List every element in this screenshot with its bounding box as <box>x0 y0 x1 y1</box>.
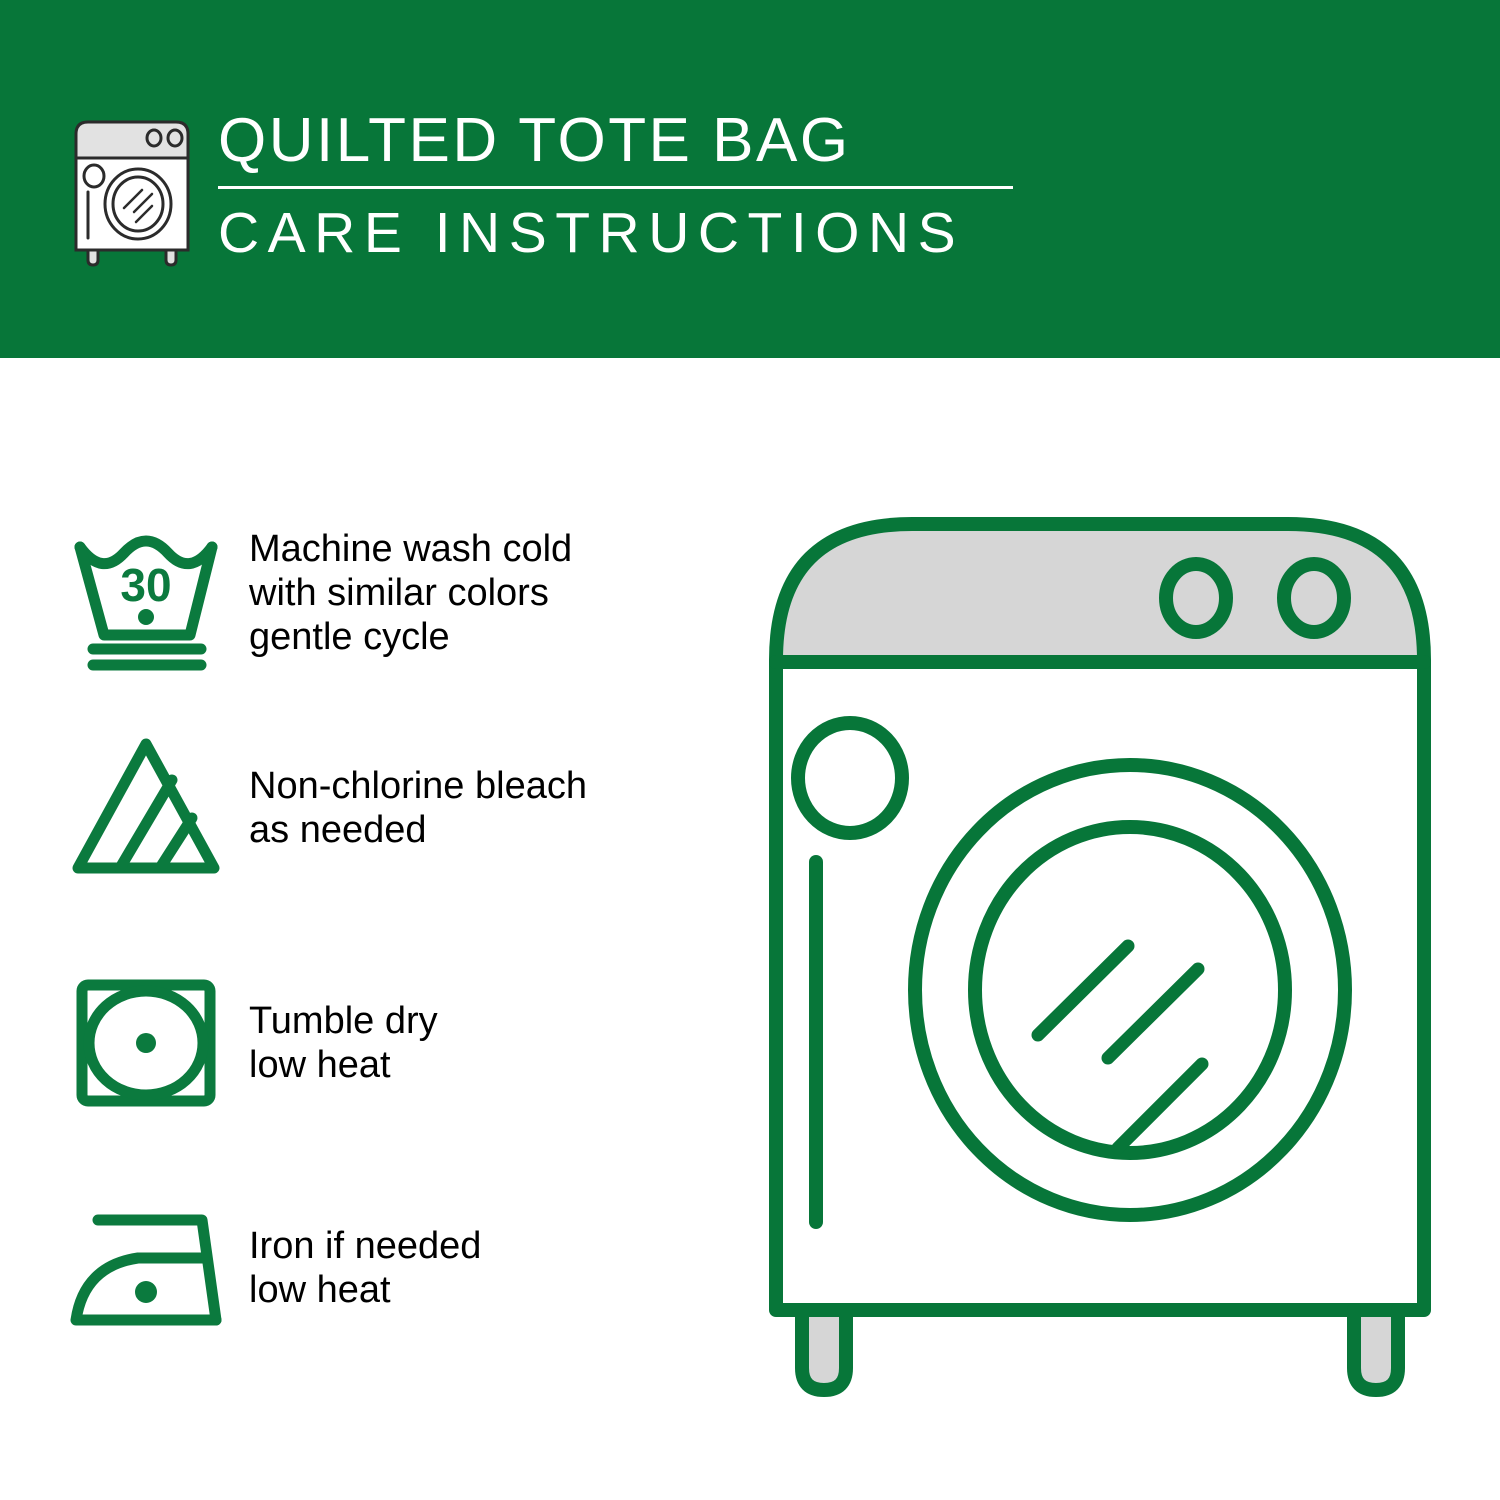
wash-temperature-label: 30 <box>120 559 171 611</box>
care-item-bleach: Non-chlorine bleach as needed <box>60 720 720 895</box>
care-item-iron-text: Iron if needed low heat <box>235 1224 720 1312</box>
tumble-dry-low-icon <box>60 955 235 1130</box>
page-subtitle: CARE INSTRUCTIONS <box>218 199 1018 267</box>
care-text-line: low heat <box>249 1043 720 1087</box>
header-text-block: QUILTED TOTE BAG CARE INSTRUCTIONS <box>218 104 1018 267</box>
care-item-tumble-dry-text: Tumble dry low heat <box>235 999 720 1087</box>
control-panel-fill <box>776 524 1424 662</box>
care-item-tumble-dry: Tumble dry low heat <box>60 955 720 1130</box>
care-text-line: Iron if needed <box>249 1224 720 1268</box>
care-text-line: Machine wash cold <box>249 527 720 571</box>
washing-machine-illustration <box>740 480 1460 1420</box>
machine-wash-30-gentle-icon: 30 <box>60 505 235 680</box>
title-divider <box>218 186 1013 189</box>
care-text-line: Non-chlorine bleach <box>249 764 720 808</box>
care-text-line: with similar colors <box>249 571 720 615</box>
iron-low-heat-icon <box>60 1180 235 1355</box>
washing-machine-icon <box>62 108 202 268</box>
header-banner: QUILTED TOTE BAG CARE INSTRUCTIONS <box>0 0 1500 358</box>
care-item-bleach-text: Non-chlorine bleach as needed <box>235 764 720 852</box>
care-item-machine-wash: 30 Machine wash cold with similar colors… <box>60 505 720 680</box>
care-text-line: low heat <box>249 1268 720 1312</box>
care-instructions-page: QUILTED TOTE BAG CARE INSTRUCTIONS <box>0 0 1500 1500</box>
care-text-line: gentle cycle <box>249 615 720 659</box>
page-title: QUILTED TOTE BAG <box>218 104 1018 178</box>
non-chlorine-bleach-icon <box>60 720 235 895</box>
care-item-iron: Iron if needed low heat <box>60 1180 720 1355</box>
care-text-line: as needed <box>249 808 720 852</box>
care-item-machine-wash-text: Machine wash cold with similar colors ge… <box>235 527 720 659</box>
care-text-line: Tumble dry <box>249 999 720 1043</box>
